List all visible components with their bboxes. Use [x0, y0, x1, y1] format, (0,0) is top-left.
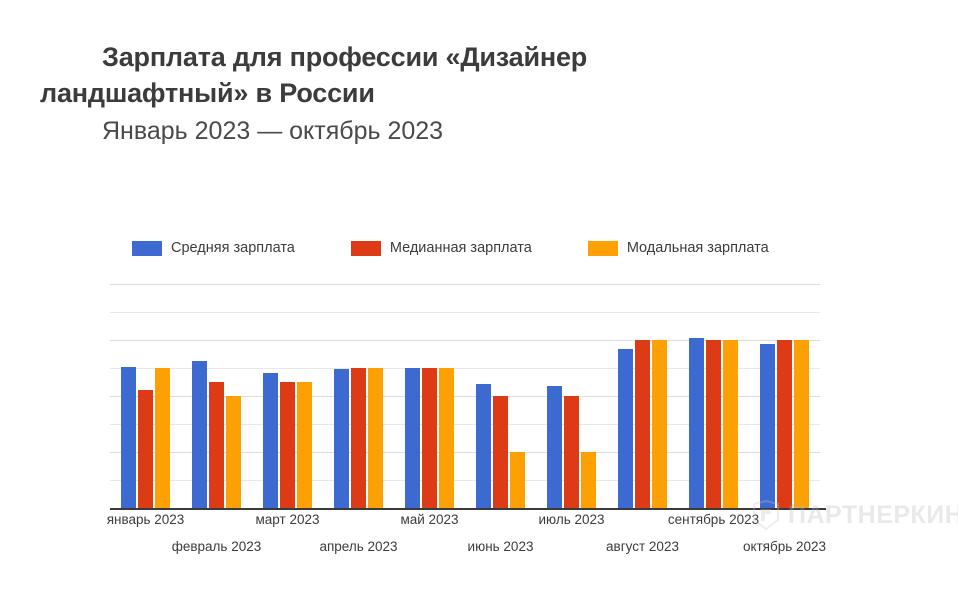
bar[interactable] — [618, 349, 633, 508]
x-axis-tick-label: август 2023 — [606, 539, 679, 554]
x-axis-label-cell: май 2023 — [394, 512, 465, 572]
bar-group — [110, 284, 181, 508]
x-axis-tick-label: апрель 2023 — [319, 539, 397, 554]
bar[interactable] — [297, 382, 312, 508]
bar[interactable] — [351, 368, 366, 508]
x-axis-labels: январь 2023февраль 2023март 2023апрель 2… — [110, 512, 820, 572]
bar-group — [678, 284, 749, 508]
x-axis-tick-label: май 2023 — [400, 512, 458, 527]
bar[interactable] — [422, 368, 437, 508]
bar[interactable] — [581, 452, 596, 508]
bar-group — [607, 284, 678, 508]
x-axis-label-cell: апрель 2023 — [323, 512, 394, 572]
bar[interactable] — [138, 390, 153, 508]
bar-group — [749, 284, 820, 508]
bar[interactable] — [547, 386, 562, 508]
bar-group — [323, 284, 394, 508]
x-axis-tick-label: март 2023 — [256, 512, 320, 527]
bar[interactable] — [777, 340, 792, 508]
bar[interactable] — [155, 368, 170, 508]
bar[interactable] — [760, 344, 775, 508]
x-axis-line — [110, 508, 826, 510]
bar-group — [252, 284, 323, 508]
x-axis-label-cell: февраль 2023 — [181, 512, 252, 572]
bar[interactable] — [368, 368, 383, 508]
x-axis-label-cell: октябрь 2023 — [749, 512, 820, 572]
bar[interactable] — [635, 340, 650, 508]
x-axis-tick-label: январь 2023 — [107, 512, 185, 527]
x-axis-tick-label: июль 2023 — [538, 512, 604, 527]
x-axis-label-cell: март 2023 — [252, 512, 323, 572]
bar[interactable] — [263, 373, 278, 508]
bar[interactable] — [334, 369, 349, 508]
bar[interactable] — [564, 396, 579, 508]
bar[interactable] — [794, 340, 809, 508]
bar[interactable] — [723, 340, 738, 508]
bar[interactable] — [209, 382, 224, 508]
bar[interactable] — [510, 452, 525, 508]
bar-group — [465, 284, 536, 508]
bar[interactable] — [439, 368, 454, 508]
x-axis-label-cell: июль 2023 — [536, 512, 607, 572]
bar-groups — [110, 284, 820, 508]
bar[interactable] — [192, 361, 207, 508]
bar[interactable] — [226, 396, 241, 508]
bar[interactable] — [121, 367, 136, 508]
x-axis-tick-label: февраль 2023 — [172, 539, 262, 554]
bar[interactable] — [706, 340, 721, 508]
x-axis-label-cell: январь 2023 — [110, 512, 181, 572]
plot-area: 020 00040 00060 00080 000 — [110, 284, 820, 508]
x-axis-label-cell: июнь 2023 — [465, 512, 536, 572]
bar[interactable] — [405, 368, 420, 508]
bar[interactable] — [280, 382, 295, 508]
bar-group — [536, 284, 607, 508]
bar[interactable] — [689, 338, 704, 508]
x-axis-tick-label: октябрь 2023 — [743, 539, 826, 554]
bar-group — [181, 284, 252, 508]
x-axis-label-cell: сентябрь 2023 — [678, 512, 749, 572]
bar[interactable] — [476, 384, 491, 508]
bar[interactable] — [493, 396, 508, 508]
bar[interactable] — [652, 340, 667, 508]
bar-group — [394, 284, 465, 508]
chart-plot: 020 00040 00060 00080 000 январь 2023фев… — [0, 0, 958, 600]
x-axis-tick-label: июнь 2023 — [468, 539, 534, 554]
x-axis-tick-label: сентябрь 2023 — [668, 512, 759, 527]
